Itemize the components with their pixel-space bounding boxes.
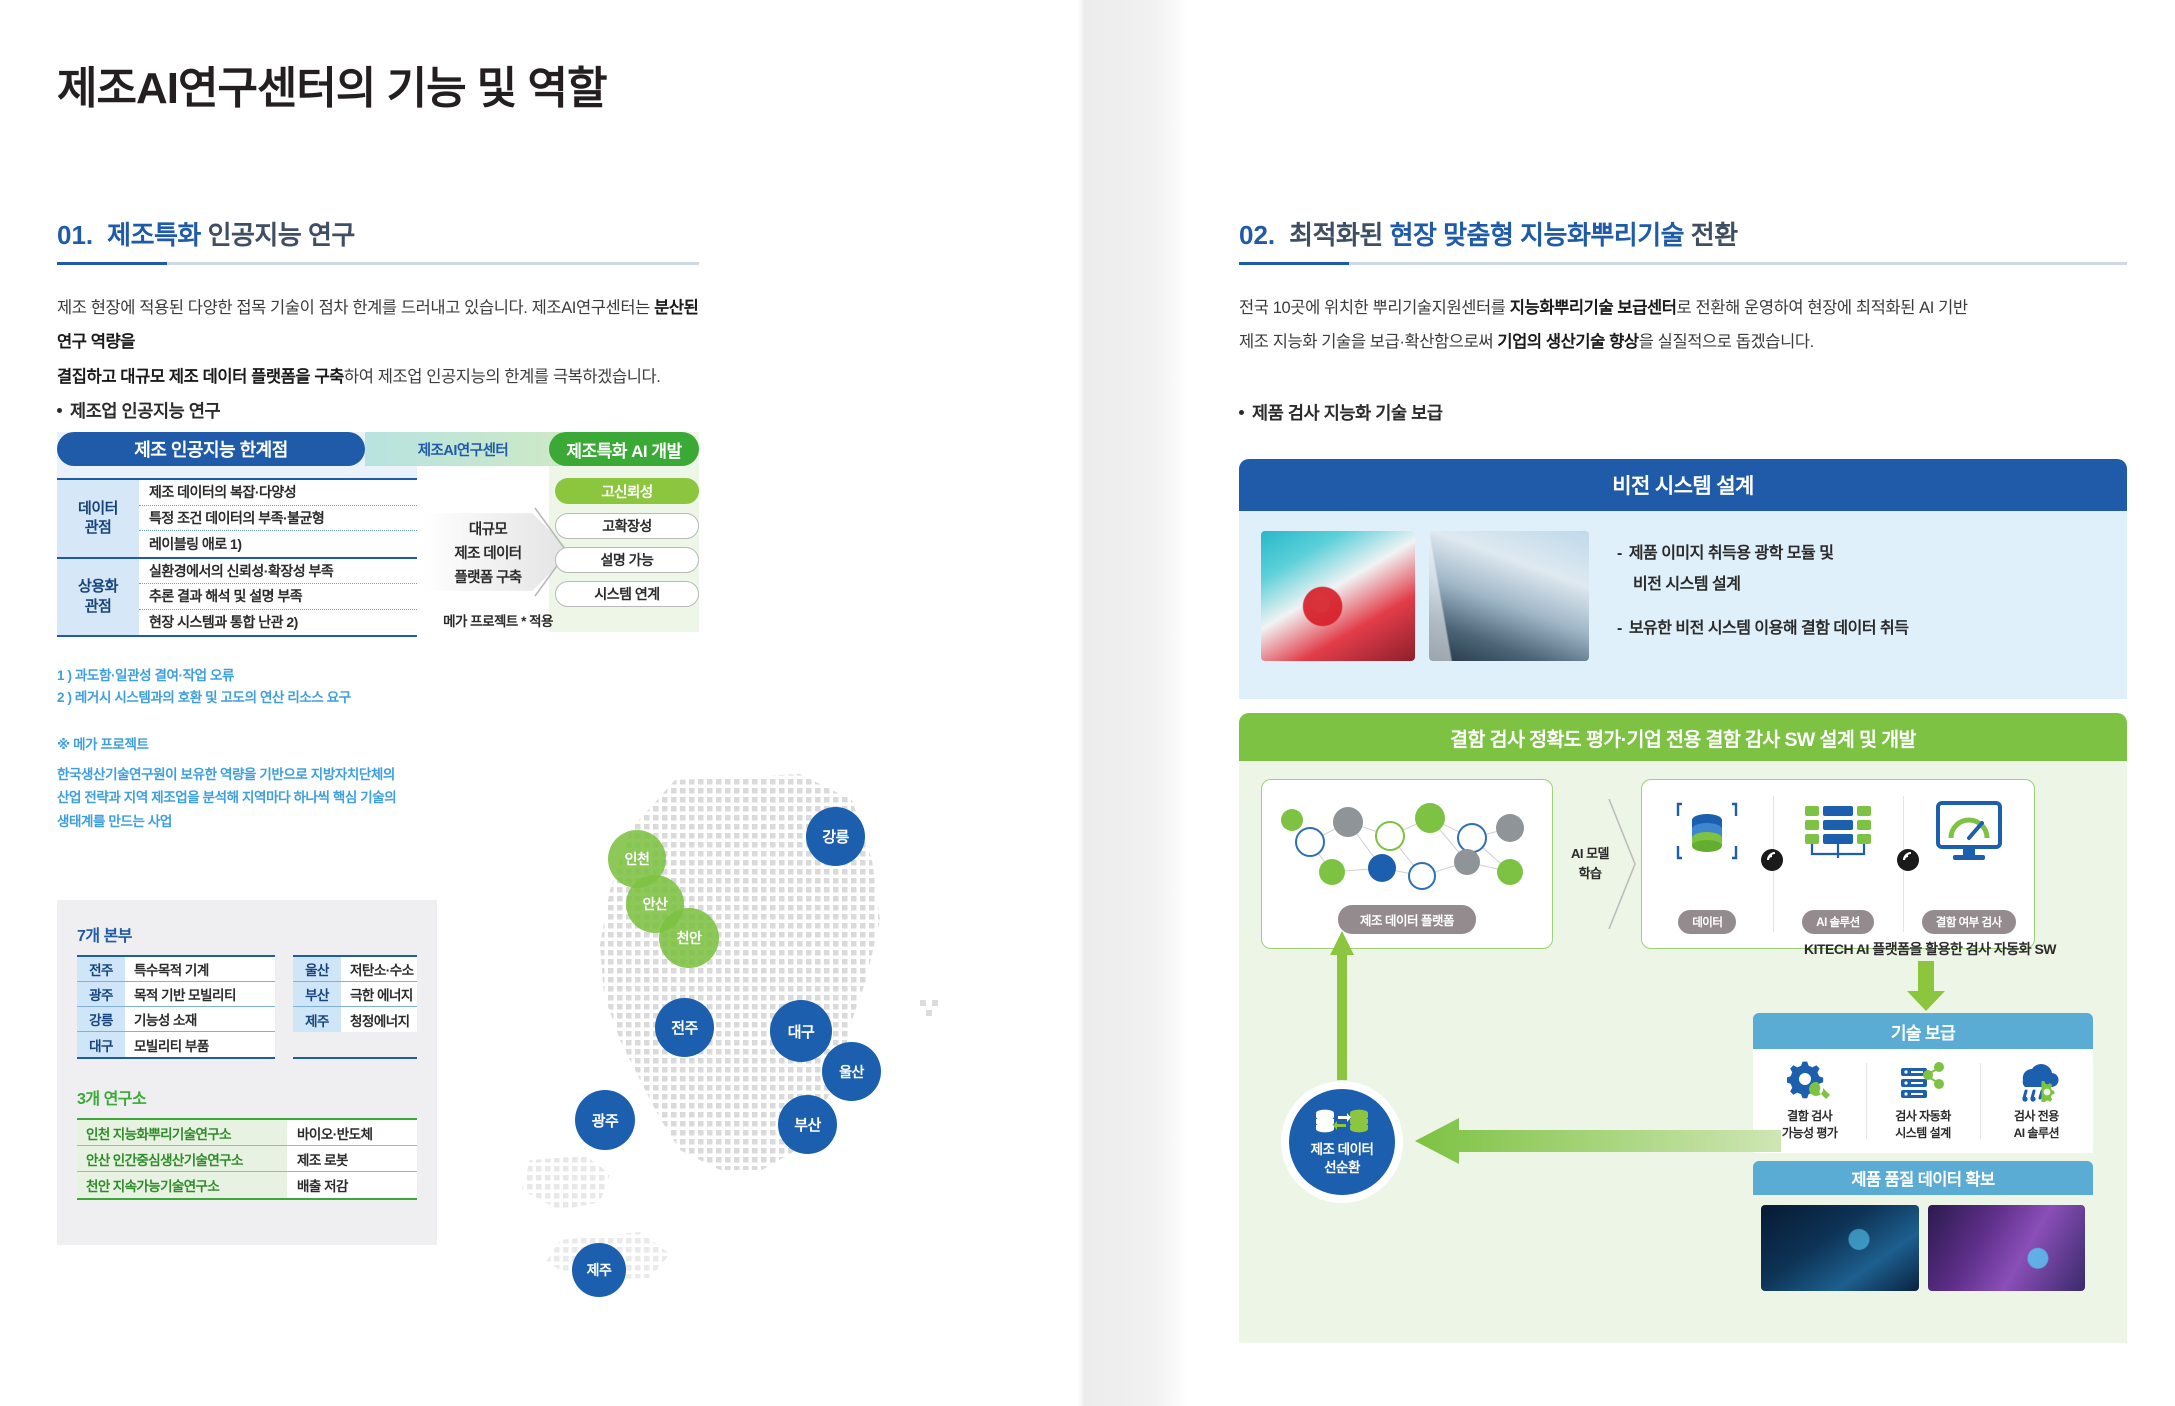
technology-deployment-header: 기술 보급	[1753, 1013, 2093, 1049]
ri-name: 인천 지능화뿌리기술연구소	[77, 1120, 287, 1145]
footnote-1: 1 ) 과도함·일관성 결여·작업 오류	[57, 665, 351, 687]
mega-note-line: 산업 전략과 지역 제조업을 분석해 지역마다 하나씩 핵심 기술의	[57, 786, 396, 809]
ri-table: 인천 지능화뿌리기술연구소 바이오·반도체 안산 인간중심생산기술연구소 제조 …	[77, 1118, 417, 1200]
footnotes: 1 ) 과도함·일관성 결여·작업 오류 2 ) 레거시 시스템과의 호환 및 …	[57, 665, 351, 709]
arrow-down-icon	[1905, 961, 1947, 1013]
ri-value: 제조 로봇	[287, 1146, 417, 1171]
page-title: 제조AI연구센터의 기능 및 역할	[57, 52, 606, 116]
server-share-icon	[1899, 1060, 1947, 1102]
limitation-rows: 실환경에서의 신뢰성·확장성 부족 추론 결과 해석 및 설명 부족 현장 시스…	[139, 559, 417, 636]
limitation-row: 실환경에서의 신뢰성·확장성 부족	[139, 559, 417, 585]
ai-model-line-1: AI 모델	[1571, 844, 1609, 864]
database-icon	[1676, 798, 1738, 864]
s2-l2a: 제조 지능화 기술을 보급·확산함으로써	[1239, 333, 1497, 351]
data-platform-card: 제조 데이터 플랫폼	[1261, 779, 1553, 949]
hq-value: 모빌리티 부품	[125, 1032, 275, 1057]
section-01-body-line1: 제조 현장에 적용된 다양한 접목 기술이 점차 한계를 드러내고 있습니다. …	[57, 291, 699, 360]
korea-map-dots-icon	[500, 770, 980, 1370]
limitation-table: 데이터관점 제조 데이터의 복잡·다양성 특정 조건 데이터의 부족·불균형 레…	[57, 478, 417, 637]
pill-limitations: 제조 인공지능 한계점	[57, 432, 365, 466]
vision-note-2: - 보유한 비전 시스템 이용해 결함 데이터 취득	[1617, 614, 2105, 645]
footnote-2: 2 ) 레거시 시스템과의 호환 및 고도의 연산 리소스 요구	[57, 687, 351, 709]
defect-inspection-header: 결함 검사 정확도 평가·기업 전용 결함 감사 SW 설계 및 개발	[1239, 713, 2127, 761]
cycle-line-1: 제조 데이터	[1311, 1141, 1374, 1159]
limitation-row: 추론 결과 해석 및 설명 부족	[139, 584, 417, 610]
network-graph-icon	[1262, 780, 1554, 900]
limitation-row: 제조 데이터의 복잡·다양성	[139, 480, 417, 506]
table-row: 울산 저탄소·수소	[293, 957, 417, 982]
bullet-label: 제품 검사 지능화 기술 보급	[1252, 400, 1443, 425]
hq-value: 저탄소·수소	[341, 957, 417, 981]
vision-note-text: 제품 이미지 취득용 광학 모듈 및	[1629, 539, 1834, 570]
platform-chip: 제조 데이터 플랫폼	[1338, 905, 1476, 934]
quality-photo-dashboard	[1761, 1205, 1919, 1291]
ri-title: 3개 연구소	[77, 1085, 417, 1109]
tech-item-automation-design: 검사 자동화 시스템 설계	[1866, 1049, 1979, 1153]
dash-icon: -	[1617, 539, 1622, 570]
body-l2b: 하여 제조업 인공지능의 한계를 극복하겠습니다.	[344, 368, 661, 386]
pill-center-label: 제조AI연구센터	[365, 432, 561, 466]
section-01-number: 01.	[57, 220, 93, 251]
ai-feature-item: 설명 가능	[555, 547, 699, 573]
pipeline-chip: AI 솔루션	[1802, 910, 1873, 934]
s2-l2b: 기업의 생산기술 향상	[1497, 333, 1638, 351]
ai-model-training-label: AI 모델 학습	[1571, 844, 1623, 884]
vision-note-1-cont: 비전 시스템 설계	[1617, 570, 2105, 601]
kitech-caption: KITECH AI 플랫폼을 활용한 검사 자동화 SW	[1733, 939, 2127, 959]
ri-name: 안산 인간중심생산기술연구소	[77, 1146, 287, 1171]
hq-city: 부산	[293, 982, 341, 1006]
gear-wrench-icon	[1787, 1060, 1833, 1102]
hq-table-left: 전주 특수목적 기계 광주 목적 기반 모빌리티 강릉 기능성 소재 대구 모빌…	[77, 955, 275, 1059]
section-01: 01. 제조특화 인공지능 연구 제조 현장에 적용된 다양한 접목 기술이 점…	[57, 215, 699, 394]
limitation-row: 레이블링 애로 1)	[139, 531, 417, 557]
quality-photo-warehouse	[1928, 1205, 2086, 1291]
table-row: 강릉 기능성 소재	[77, 1007, 275, 1032]
hq-value: 특수목적 기계	[125, 957, 275, 981]
organization-box: 7개 본부 전주 특수목적 기계 광주 목적 기반 모빌리티 강릉 기능성 소재	[57, 900, 437, 1245]
diagram-pill-row: 제조 인공지능 한계점 제조AI연구센터 제조특화 AI 개발	[57, 432, 699, 466]
limitation-group-data: 데이터관점 제조 데이터의 복잡·다양성 특정 조건 데이터의 부족·불균형 레…	[57, 478, 417, 557]
vision-note-text: 보유한 비전 시스템 이용해 결함 데이터 취득	[1629, 614, 1909, 645]
tech-item-label: 검사 자동화 시스템 설계	[1895, 1108, 1951, 1143]
mega-project-arrow: 대규모 제조 데이터 플랫폼 구축	[423, 498, 571, 606]
signal-dot-icon	[1896, 848, 1920, 872]
section-02-title-c: 전환	[1684, 220, 1738, 250]
ai-feature-primary: 고신뢰성	[555, 478, 699, 504]
hq-city: 제주	[293, 1007, 341, 1032]
limitation-row: 현장 시스템과 통합 난관 2)	[139, 610, 417, 636]
tech-label-line2: 가능성 평가	[1782, 1125, 1838, 1142]
mega-line-2: 제조 데이터	[454, 542, 521, 563]
vision-photo-optics	[1261, 531, 1415, 661]
body-l1a: 제조 현장에 적용된 다양한 접목 기술이 점차 한계를 드러내고 있습니다. …	[57, 299, 654, 317]
section-02-title-b: 현장 맞춤형 지능화뿌리기술	[1390, 220, 1685, 250]
hq-city: 전주	[77, 957, 125, 981]
limitation-row: 특정 조건 데이터의 부족·불균형	[139, 506, 417, 532]
page-gutter	[1078, 0, 1188, 1406]
signal-dot-icon	[1760, 848, 1784, 872]
tech-label-line1: 검사 자동화	[1895, 1108, 1951, 1125]
section-02-number: 02.	[1239, 220, 1275, 251]
vision-note-text: 비전 시스템 설계	[1633, 570, 1740, 601]
hq-city: 대구	[77, 1032, 125, 1057]
map-pin-gangneung[interactable]: 강릉	[806, 807, 865, 866]
tech-label-line1: 결함 검사	[1782, 1108, 1838, 1125]
body-l2a: 결집하고 대규모 제조 데이터 플랫폼을 구축	[57, 368, 344, 386]
map-pin-jeonju[interactable]: 전주	[655, 998, 714, 1057]
limitation-group-label: 상용화관점	[57, 559, 139, 636]
mega-arrow-text: 대규모 제조 데이터 플랫폼 구축	[423, 498, 571, 606]
table-row: 대구 모빌리티 부품	[77, 1032, 275, 1057]
limitation-group-label: 데이터관점	[57, 480, 139, 557]
ri-name: 천안 지속가능기술연구소	[77, 1172, 287, 1198]
hq-value: 목적 기반 모빌리티	[125, 982, 275, 1006]
ri-value: 배출 저감	[287, 1172, 417, 1198]
hq-value: 청정에너지	[341, 1007, 417, 1032]
map-pin-jeju[interactable]: 제주	[572, 1243, 626, 1297]
mega-line-1: 대규모	[469, 518, 507, 539]
s2-l1b: 지능화뿌리기술 보급센터	[1510, 299, 1677, 317]
table-row: 안산 인간중심생산기술연구소 제조 로봇	[77, 1146, 417, 1172]
arrow-left-icon	[1415, 1118, 1781, 1164]
mega-project-caption: 메가 프로젝트 * 적용	[423, 610, 573, 630]
section-01-title-rest: 인공지능 연구	[208, 220, 355, 250]
section-02: 02. 최적화된 현장 맞춤형 지능화뿌리기술 전환 전국 10곳에 위치한 뿌…	[1239, 215, 2127, 360]
ai-model-line-2: 학습	[1571, 864, 1609, 884]
section-01-body-line2: 결집하고 대규모 제조 데이터 플랫폼을 구축하여 제조업 인공지능의 한계를 …	[57, 360, 699, 394]
ai-feature-item: 시스템 연계	[555, 581, 699, 607]
hq-title: 7개 본부	[77, 922, 417, 946]
table-row: 부산 극한 에너지	[293, 982, 417, 1007]
table-row: 천안 지속가능기술연구소 배출 저감	[77, 1172, 417, 1198]
table-row: 광주 목적 기반 모빌리티	[77, 982, 275, 1007]
section-01-title: 제조특화 인공지능 연구	[107, 215, 355, 252]
section-01-rule	[57, 262, 699, 265]
pipeline-stage-solution: AI 솔루션	[1773, 780, 1904, 948]
cycle-line-2: 선순환	[1311, 1159, 1374, 1177]
arrow-up-icon	[1329, 931, 1355, 1081]
ai-model-training-arrow: AI 모델 학습	[1553, 779, 1641, 949]
section-01-body: 제조 현장에 적용된 다양한 접목 기술이 점차 한계를 드러내고 있습니다. …	[57, 291, 699, 394]
data-exchange-icon	[1314, 1108, 1370, 1136]
limitation-diagram: 제조 인공지능 한계점 제조AI연구센터 제조특화 AI 개발 데이터관점 제조…	[57, 432, 699, 632]
bullet-label: 제조업 인공지능 연구	[70, 398, 220, 423]
bullet-dot-icon	[57, 408, 62, 413]
limitation-rows: 제조 데이터의 복잡·다양성 특정 조건 데이터의 부족·불균형 레이블링 애로…	[139, 480, 417, 557]
left-page: 제조AI연구센터의 기능 및 역할 01. 제조특화 인공지능 연구 제조 현장…	[0, 0, 1078, 1406]
vision-system-header: 비전 시스템 설계	[1239, 459, 2127, 511]
pipeline-stage-data: 데이터	[1642, 780, 1773, 948]
section-02-heading: 02. 최적화된 현장 맞춤형 지능화뿌리기술 전환	[1239, 215, 2127, 252]
section-02-body-line2: 제조 지능화 기술을 보급·확산함으로써 기업의 생산기술 향상을 실질적으로 …	[1239, 325, 2127, 359]
map-pin-busan[interactable]: 부산	[778, 1095, 837, 1154]
s2-l2c: 을 실질적으로 돕겠습니다.	[1639, 333, 1814, 351]
monitor-gauge-icon	[1933, 798, 2005, 864]
table-row: 인천 지능화뿌리기술연구소 바이오·반도체	[77, 1120, 417, 1146]
mega-line-3: 플랫폼 구축	[454, 566, 521, 587]
vision-system-body: - 제품 이미지 취득용 광학 모듈 및 비전 시스템 설계 - 보유한 비전 …	[1239, 511, 2127, 681]
quality-data-box: 제품 품질 데이터 확보	[1753, 1161, 2093, 1291]
table-row: 제주 청정에너지	[293, 1007, 417, 1032]
pipeline-chip: 결함 여부 검사	[1922, 910, 2016, 934]
technology-deployment-box: 기술 보급 결함 검사 가능성 평가	[1753, 1013, 2093, 1153]
cloud-gear-icon	[2011, 1060, 2061, 1102]
s2-l1c: 로 전환해 운영하여 현장에 최적화된 AI 기반	[1677, 299, 1968, 317]
hq-value: 극한 에너지	[341, 982, 417, 1006]
tech-item-label: 결함 검사 가능성 평가	[1782, 1108, 1838, 1143]
section-02-title-a: 최적화된	[1289, 220, 1389, 250]
hq-table-right: 울산 저탄소·수소 부산 극한 에너지 제주 청정에너지	[293, 955, 417, 1059]
hq-tables: 전주 특수목적 기계 광주 목적 기반 모빌리티 강릉 기능성 소재 대구 모빌…	[77, 955, 417, 1059]
section-02-body-line1: 전국 10곳에 위치한 뿌리기술지원센터를 지능화뿌리기술 보급센터로 전환해 …	[1239, 291, 2127, 325]
tech-item-label: 검사 전용 AI 솔루션	[2014, 1108, 2059, 1143]
section-01-title-bold: 제조특화	[107, 220, 201, 250]
section-01-bullet: 제조업 인공지능 연구	[57, 398, 220, 423]
data-virtuous-cycle: 제조 데이터 선순환	[1281, 1081, 1403, 1203]
hq-city: 강릉	[77, 1007, 125, 1031]
cycle-label: 제조 데이터 선순환	[1311, 1141, 1374, 1176]
ai-feature-column: 고신뢰성 고확장성 설명 가능 시스템 연계	[555, 478, 699, 615]
section-02-bullet: 제품 검사 지능화 기술 보급	[1239, 400, 1443, 425]
mega-note-line: 생태계를 만드는 사업	[57, 810, 396, 833]
ri-value: 바이오·반도체	[287, 1120, 417, 1145]
server-rack-icon	[1799, 798, 1877, 864]
tech-label-line1: 검사 전용	[2014, 1108, 2059, 1125]
section-02-title: 최적화된 현장 맞춤형 지능화뿌리기술 전환	[1289, 215, 1737, 252]
hq-value: 기능성 소재	[125, 1007, 275, 1031]
vision-system-box: 비전 시스템 설계 - 제품 이미지 취득용 광학 모듈 및 비전 시스템 설계…	[1239, 459, 2127, 699]
map-pin-gwangju[interactable]: 광주	[575, 1090, 635, 1150]
technology-items: 결함 검사 가능성 평가	[1753, 1049, 2093, 1153]
mega-note-line: 한국생산기술연구원이 보유한 역량을 기반으로 지방자치단체의	[57, 763, 396, 786]
section-01-heading: 01. 제조특화 인공지능 연구	[57, 215, 699, 252]
section-02-body: 전국 10곳에 위치한 뿌리기술지원센터를 지능화뿌리기술 보급센터로 전환해 …	[1239, 291, 2127, 360]
defect-inspection-box: 결함 검사 정확도 평가·기업 전용 결함 감사 SW 설계 및 개발	[1239, 713, 2127, 1343]
mega-project-note: ※ 메가 프로젝트 한국생산기술연구원이 보유한 역량을 기반으로 지방자치단체…	[57, 733, 396, 833]
page: 제조AI연구센터의 기능 및 역할 01. 제조특화 인공지능 연구 제조 현장…	[0, 0, 2175, 1406]
pill-ai-development: 제조특화 AI 개발	[549, 432, 699, 466]
dash-icon: -	[1617, 614, 1622, 645]
hq-city: 광주	[77, 982, 125, 1006]
map-pin-cheonan[interactable]: 천안	[659, 908, 719, 968]
vision-note-1: - 제품 이미지 취득용 광학 모듈 및	[1617, 539, 2105, 570]
hq-city: 울산	[293, 957, 341, 981]
map-pin-ulsan[interactable]: 울산	[822, 1042, 881, 1101]
pipeline-chip: 데이터	[1678, 910, 1736, 934]
section-02-rule	[1239, 262, 2127, 265]
ai-feature-item: 고확장성	[555, 513, 699, 539]
tech-item-ai-solution: 검사 전용 AI 솔루션	[1980, 1049, 2093, 1153]
tech-label-line2: AI 솔루션	[2014, 1125, 2059, 1142]
quality-data-images	[1753, 1195, 2093, 1291]
quality-data-header: 제품 품질 데이터 확보	[1753, 1161, 2093, 1195]
table-row: 전주 특수목적 기계	[77, 957, 275, 982]
tech-label-line2: 시스템 설계	[1895, 1125, 1951, 1142]
korea-map: 인천 안산 천안 강릉 전주 대구 울산 광주 부산 제주	[500, 770, 980, 1370]
bullet-dot-icon	[1239, 410, 1244, 415]
vision-notes: - 제품 이미지 취득용 광학 모듈 및 비전 시스템 설계 - 보유한 비전 …	[1603, 531, 2105, 659]
map-pin-daegu[interactable]: 대구	[770, 1000, 832, 1062]
flow-row: 제조 데이터 플랫폼 AI 모델 학습	[1239, 761, 2127, 949]
vision-photo-robot-line	[1429, 531, 1589, 661]
mega-note-heading: ※ 메가 프로젝트	[57, 733, 396, 756]
s2-l1a: 전국 10곳에 위치한 뿌리기술지원센터를	[1239, 299, 1510, 317]
pipeline-stage-inspect: 결함 여부 검사	[1903, 780, 2034, 948]
ai-pipeline-card: 데이터	[1641, 779, 2035, 949]
limitation-group-commercial: 상용화관점 실환경에서의 신뢰성·확장성 부족 추론 결과 해석 및 설명 부족…	[57, 557, 417, 638]
